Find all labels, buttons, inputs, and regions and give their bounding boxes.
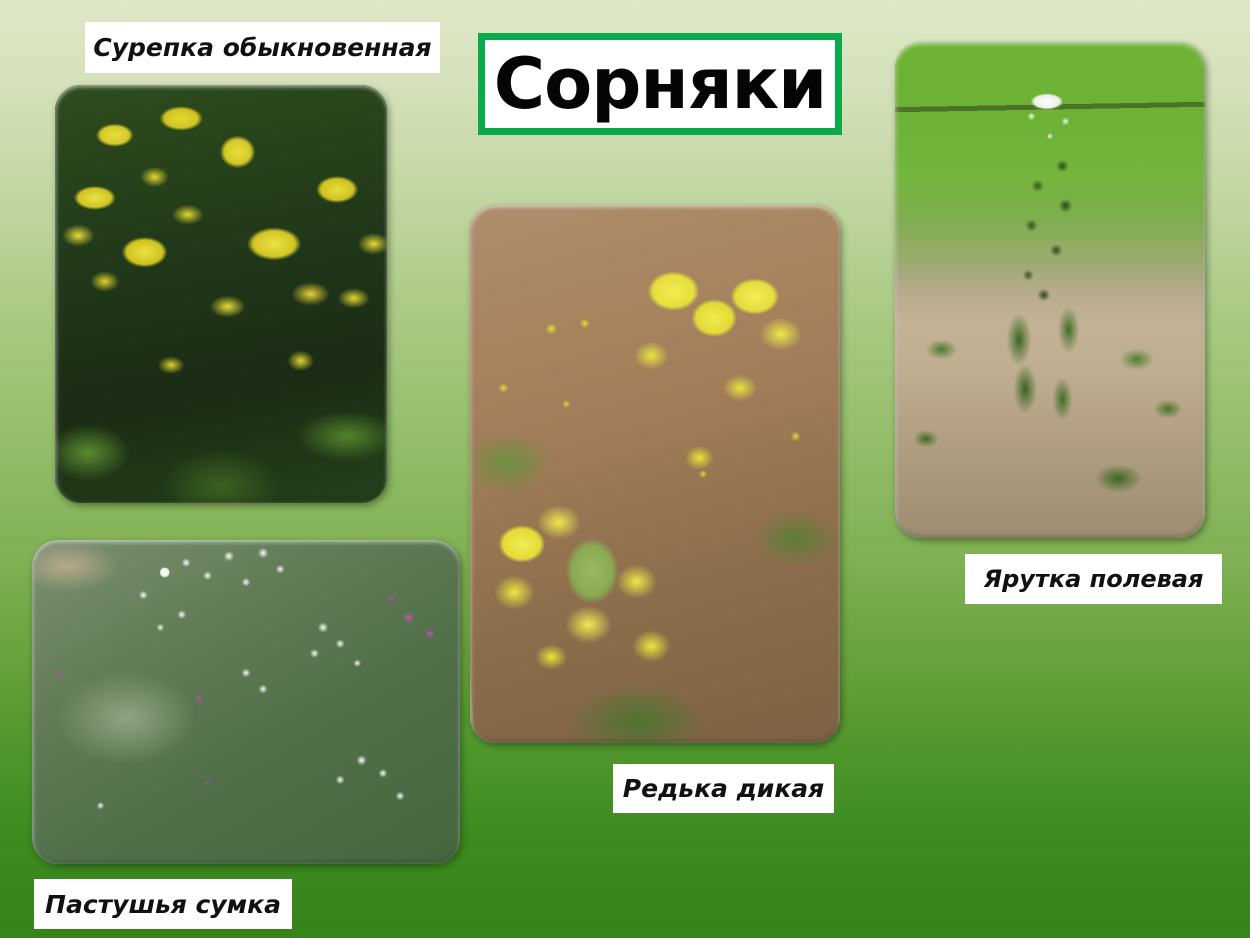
photo-surepka-obyknovennaya	[55, 85, 387, 503]
slide-title: Сорняки	[494, 49, 826, 119]
slide-title-box: Сорняки	[478, 33, 842, 135]
photo-yarutka-image	[895, 42, 1205, 538]
caption-yarutka-polevaya: Ярутка полевая	[965, 554, 1222, 604]
photo-yarutka-polevaya	[895, 42, 1205, 538]
slide-canvas: Сорняки Сурепка обыкновенная Ярутка поле…	[0, 0, 1250, 938]
photo-redka-dikaya	[470, 205, 840, 743]
caption-redka-dikaya: Редька дикая	[613, 764, 834, 813]
photo-pastushya-image	[32, 540, 460, 864]
caption-pastushya-sumka: Пастушья сумка	[34, 879, 292, 929]
photo-surepka-image	[55, 85, 387, 503]
photo-redka-image	[470, 205, 840, 743]
photo-pastushya-sumka	[32, 540, 460, 864]
caption-surepka-obyknovennaya: Сурепка обыкновенная	[85, 22, 440, 73]
